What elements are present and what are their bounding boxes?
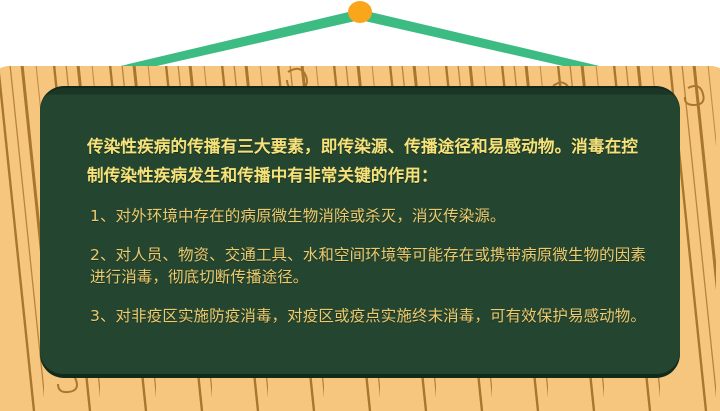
chalkboard: 传染性疾病的传播有三大要素，即传染源、传播途径和易感动物。消毒在控制传染性疾病发… [40,88,680,374]
list-item: 3、对非疫区实施防疫消毒，对疫区或疫点实施终末消毒，可有效保护易感动物。 [90,305,660,327]
list-item: 1、对外环境中存在的病原微生物消除或杀灭，消灭传染源。 [90,205,660,227]
board-list: 1、对外环境中存在的病原微生物消除或杀灭，消灭传染源。 2、对人员、物资、交通工… [90,205,660,327]
poster-canvas: 传染性疾病的传播有三大要素，即传染源、传播途径和易感动物。消毒在控制传染性疾病发… [0,0,720,411]
board-heading: 传染性疾病的传播有三大要素，即传染源、传播途径和易感动物。消毒在控制传染性疾病发… [87,132,647,190]
board-content: 传染性疾病的传播有三大要素，即传染源、传播途径和易感动物。消毒在控制传染性疾病发… [40,88,680,374]
list-item: 2、对人员、物资、交通工具、水和空间环境等可能存在或携带病原微生物的因素进行消毒… [90,244,660,288]
hook-dot-icon [348,1,372,23]
